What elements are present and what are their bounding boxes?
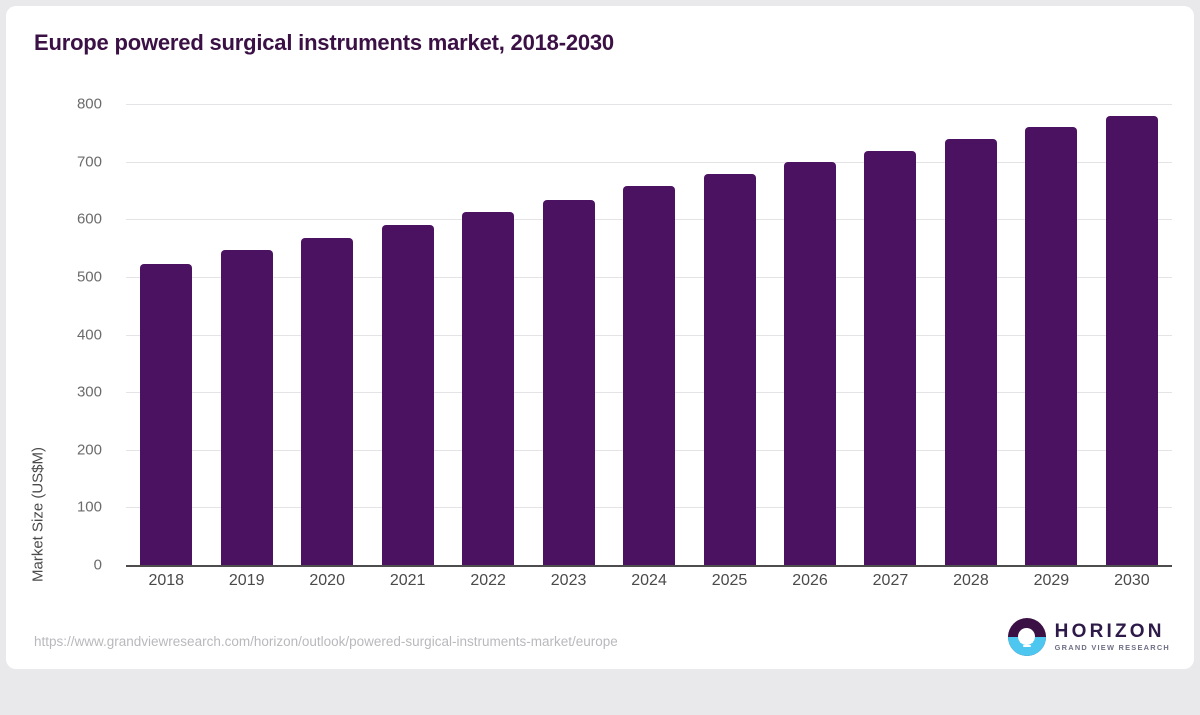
x-axis-tick-label: 2028: [931, 572, 1011, 590]
y-axis-tick-label: 600: [32, 211, 102, 228]
logo-tagline: GRAND VIEW RESEARCH: [1055, 644, 1170, 651]
x-axis-tick-label: 2027: [850, 572, 930, 590]
x-axis-ticks: 2018201920202021202220232024202520262027…: [126, 572, 1172, 590]
bar-2029[interactable]: [1025, 127, 1077, 565]
bar-2022[interactable]: [462, 212, 514, 565]
logo-wordmark: HORIZON: [1055, 622, 1170, 641]
logo-line-1: [1020, 641, 1033, 643]
x-axis-tick-label: 2030: [1092, 572, 1172, 590]
bar-slot: [206, 104, 286, 565]
x-axis-tick-label: 2025: [689, 572, 769, 590]
logo-line-2: [1023, 645, 1031, 647]
logo-text-block: HORIZON GRAND VIEW RESEARCH: [1055, 622, 1170, 651]
bar-2021[interactable]: [382, 225, 434, 565]
bar-2026[interactable]: [784, 162, 836, 565]
bar-slot: [1011, 104, 1091, 565]
plot-area: Market Size (US$M) 010020030040050060070…: [6, 6, 1194, 606]
x-axis-tick-label: 2024: [609, 572, 689, 590]
horizon-logo[interactable]: HORIZON GRAND VIEW RESEARCH: [1008, 618, 1170, 656]
x-axis-tick-label: 2023: [528, 572, 608, 590]
bar-2018[interactable]: [140, 264, 192, 565]
bar-slot: [609, 104, 689, 565]
y-axis-tick-label: 700: [32, 153, 102, 170]
y-axis-tick-label: 800: [32, 96, 102, 113]
x-axis-tick-label: 2019: [206, 572, 286, 590]
bar-2027[interactable]: [864, 151, 916, 565]
bar-2028[interactable]: [945, 139, 997, 565]
bar-slot: [448, 104, 528, 565]
horizon-logo-icon: [1008, 618, 1046, 656]
bar-slot: [1092, 104, 1172, 565]
x-axis-tick-label: 2018: [126, 572, 206, 590]
bar-series: [126, 104, 1172, 565]
bar-slot: [287, 104, 367, 565]
x-axis-tick-label: 2029: [1011, 572, 1091, 590]
bar-2025[interactable]: [704, 174, 756, 565]
bar-2030[interactable]: [1106, 116, 1158, 565]
bar-slot: [850, 104, 930, 565]
y-axis-tick-label: 0: [32, 557, 102, 574]
bar-slot: [528, 104, 608, 565]
y-axis-tick-label: 500: [32, 268, 102, 285]
x-axis-tick-label: 2020: [287, 572, 367, 590]
bar-slot: [126, 104, 206, 565]
bar-slot: [689, 104, 769, 565]
chart-card: Europe powered surgical instruments mark…: [6, 6, 1194, 669]
x-axis-tick-label: 2021: [367, 572, 447, 590]
source-url[interactable]: https://www.grandviewresearch.com/horizo…: [34, 634, 618, 649]
bar-2023[interactable]: [543, 200, 595, 565]
axis-baseline: [126, 565, 1172, 567]
y-axis-tick-label: 400: [32, 326, 102, 343]
x-axis-tick-label: 2022: [448, 572, 528, 590]
y-axis-tick-label: 100: [32, 499, 102, 516]
bar-slot: [770, 104, 850, 565]
bar-2024[interactable]: [623, 186, 675, 565]
bar-2019[interactable]: [221, 250, 273, 565]
bar-slot: [367, 104, 447, 565]
y-axis-tick-label: 200: [32, 441, 102, 458]
bar-2020[interactable]: [301, 238, 353, 565]
x-axis-tick-label: 2026: [770, 572, 850, 590]
y-axis-tick-label: 300: [32, 384, 102, 401]
bar-slot: [931, 104, 1011, 565]
